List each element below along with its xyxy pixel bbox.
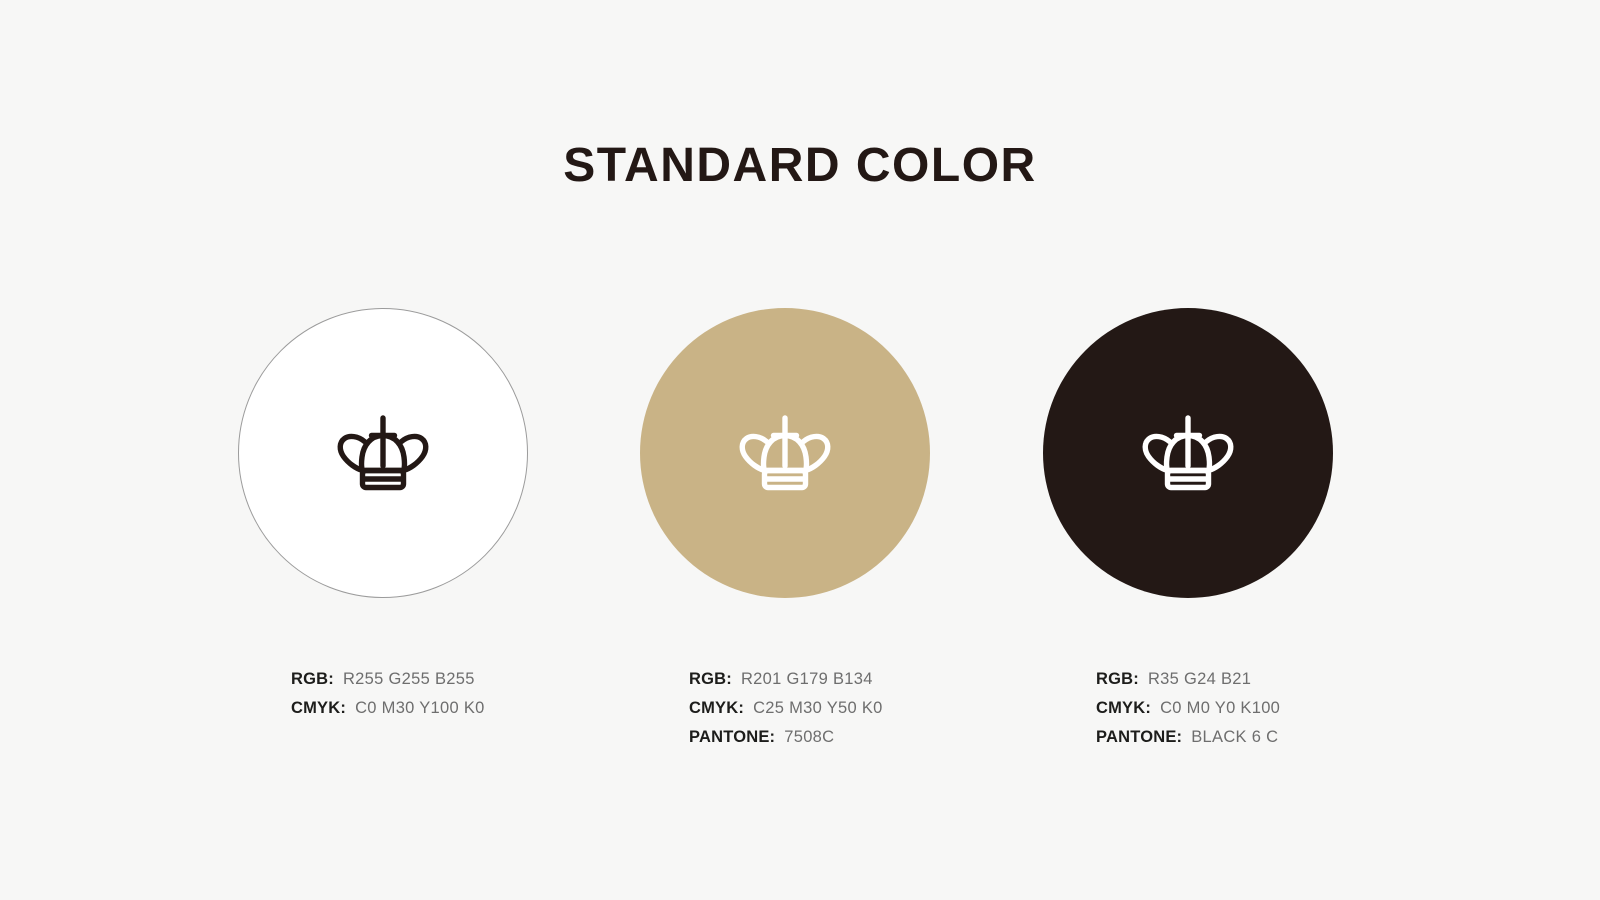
spec-block-gold: RGB:R201 G179 B134CMYK:C25 M30 Y50 K0PAN… [689,670,883,757]
spec-value: R35 G24 B21 [1148,670,1251,689]
color-circle-gold[interactable] [640,308,930,598]
color-circle-black[interactable] [1043,308,1333,598]
color-circle-white[interactable] [238,308,528,598]
spec-line: PANTONE:7508C [689,728,883,757]
page-title: STANDARD COLOR [0,140,1600,193]
spec-line: RGB:R255 G255 B255 [291,670,485,699]
spec-block-white: RGB:R255 G255 B255CMYK:C0 M30 Y100 K0 [291,670,485,728]
spec-value: R255 G255 B255 [343,670,475,689]
spec-label: PANTONE: [1096,728,1182,747]
spec-value: C0 M30 Y100 K0 [355,699,485,718]
spec-label: CMYK: [291,699,346,718]
spec-value: 7508C [784,728,834,747]
swatch-gold[interactable] [640,308,930,598]
standard-color-page: STANDARD COLOR [0,0,1600,900]
spec-line: PANTONE:BLACK 6 C [1096,728,1280,757]
spec-line: RGB:R35 G24 B21 [1096,670,1280,699]
spec-value: C25 M30 Y50 K0 [753,699,883,718]
spec-value: C0 M0 Y0 K100 [1160,699,1280,718]
spec-label: RGB: [291,670,334,689]
crown-icon [733,410,837,496]
crown-icon [1136,410,1240,496]
spec-label: CMYK: [689,699,744,718]
spec-row: RGB:R255 G255 B255CMYK:C0 M30 Y100 K0 RG… [0,670,1600,790]
spec-value: BLACK 6 C [1191,728,1278,747]
spec-label: PANTONE: [689,728,775,747]
swatch-white[interactable] [238,308,528,598]
spec-label: CMYK: [1096,699,1151,718]
spec-label: RGB: [689,670,732,689]
spec-line: CMYK:C25 M30 Y50 K0 [689,699,883,728]
spec-line: CMYK:C0 M30 Y100 K0 [291,699,485,728]
swatch-row [0,308,1600,608]
spec-label: RGB: [1096,670,1139,689]
spec-block-black: RGB:R35 G24 B21CMYK:C0 M0 Y0 K100PANTONE… [1096,670,1280,757]
spec-line: CMYK:C0 M0 Y0 K100 [1096,699,1280,728]
spec-value: R201 G179 B134 [741,670,873,689]
spec-line: RGB:R201 G179 B134 [689,670,883,699]
crown-icon [331,410,435,496]
swatch-black[interactable] [1043,308,1333,598]
